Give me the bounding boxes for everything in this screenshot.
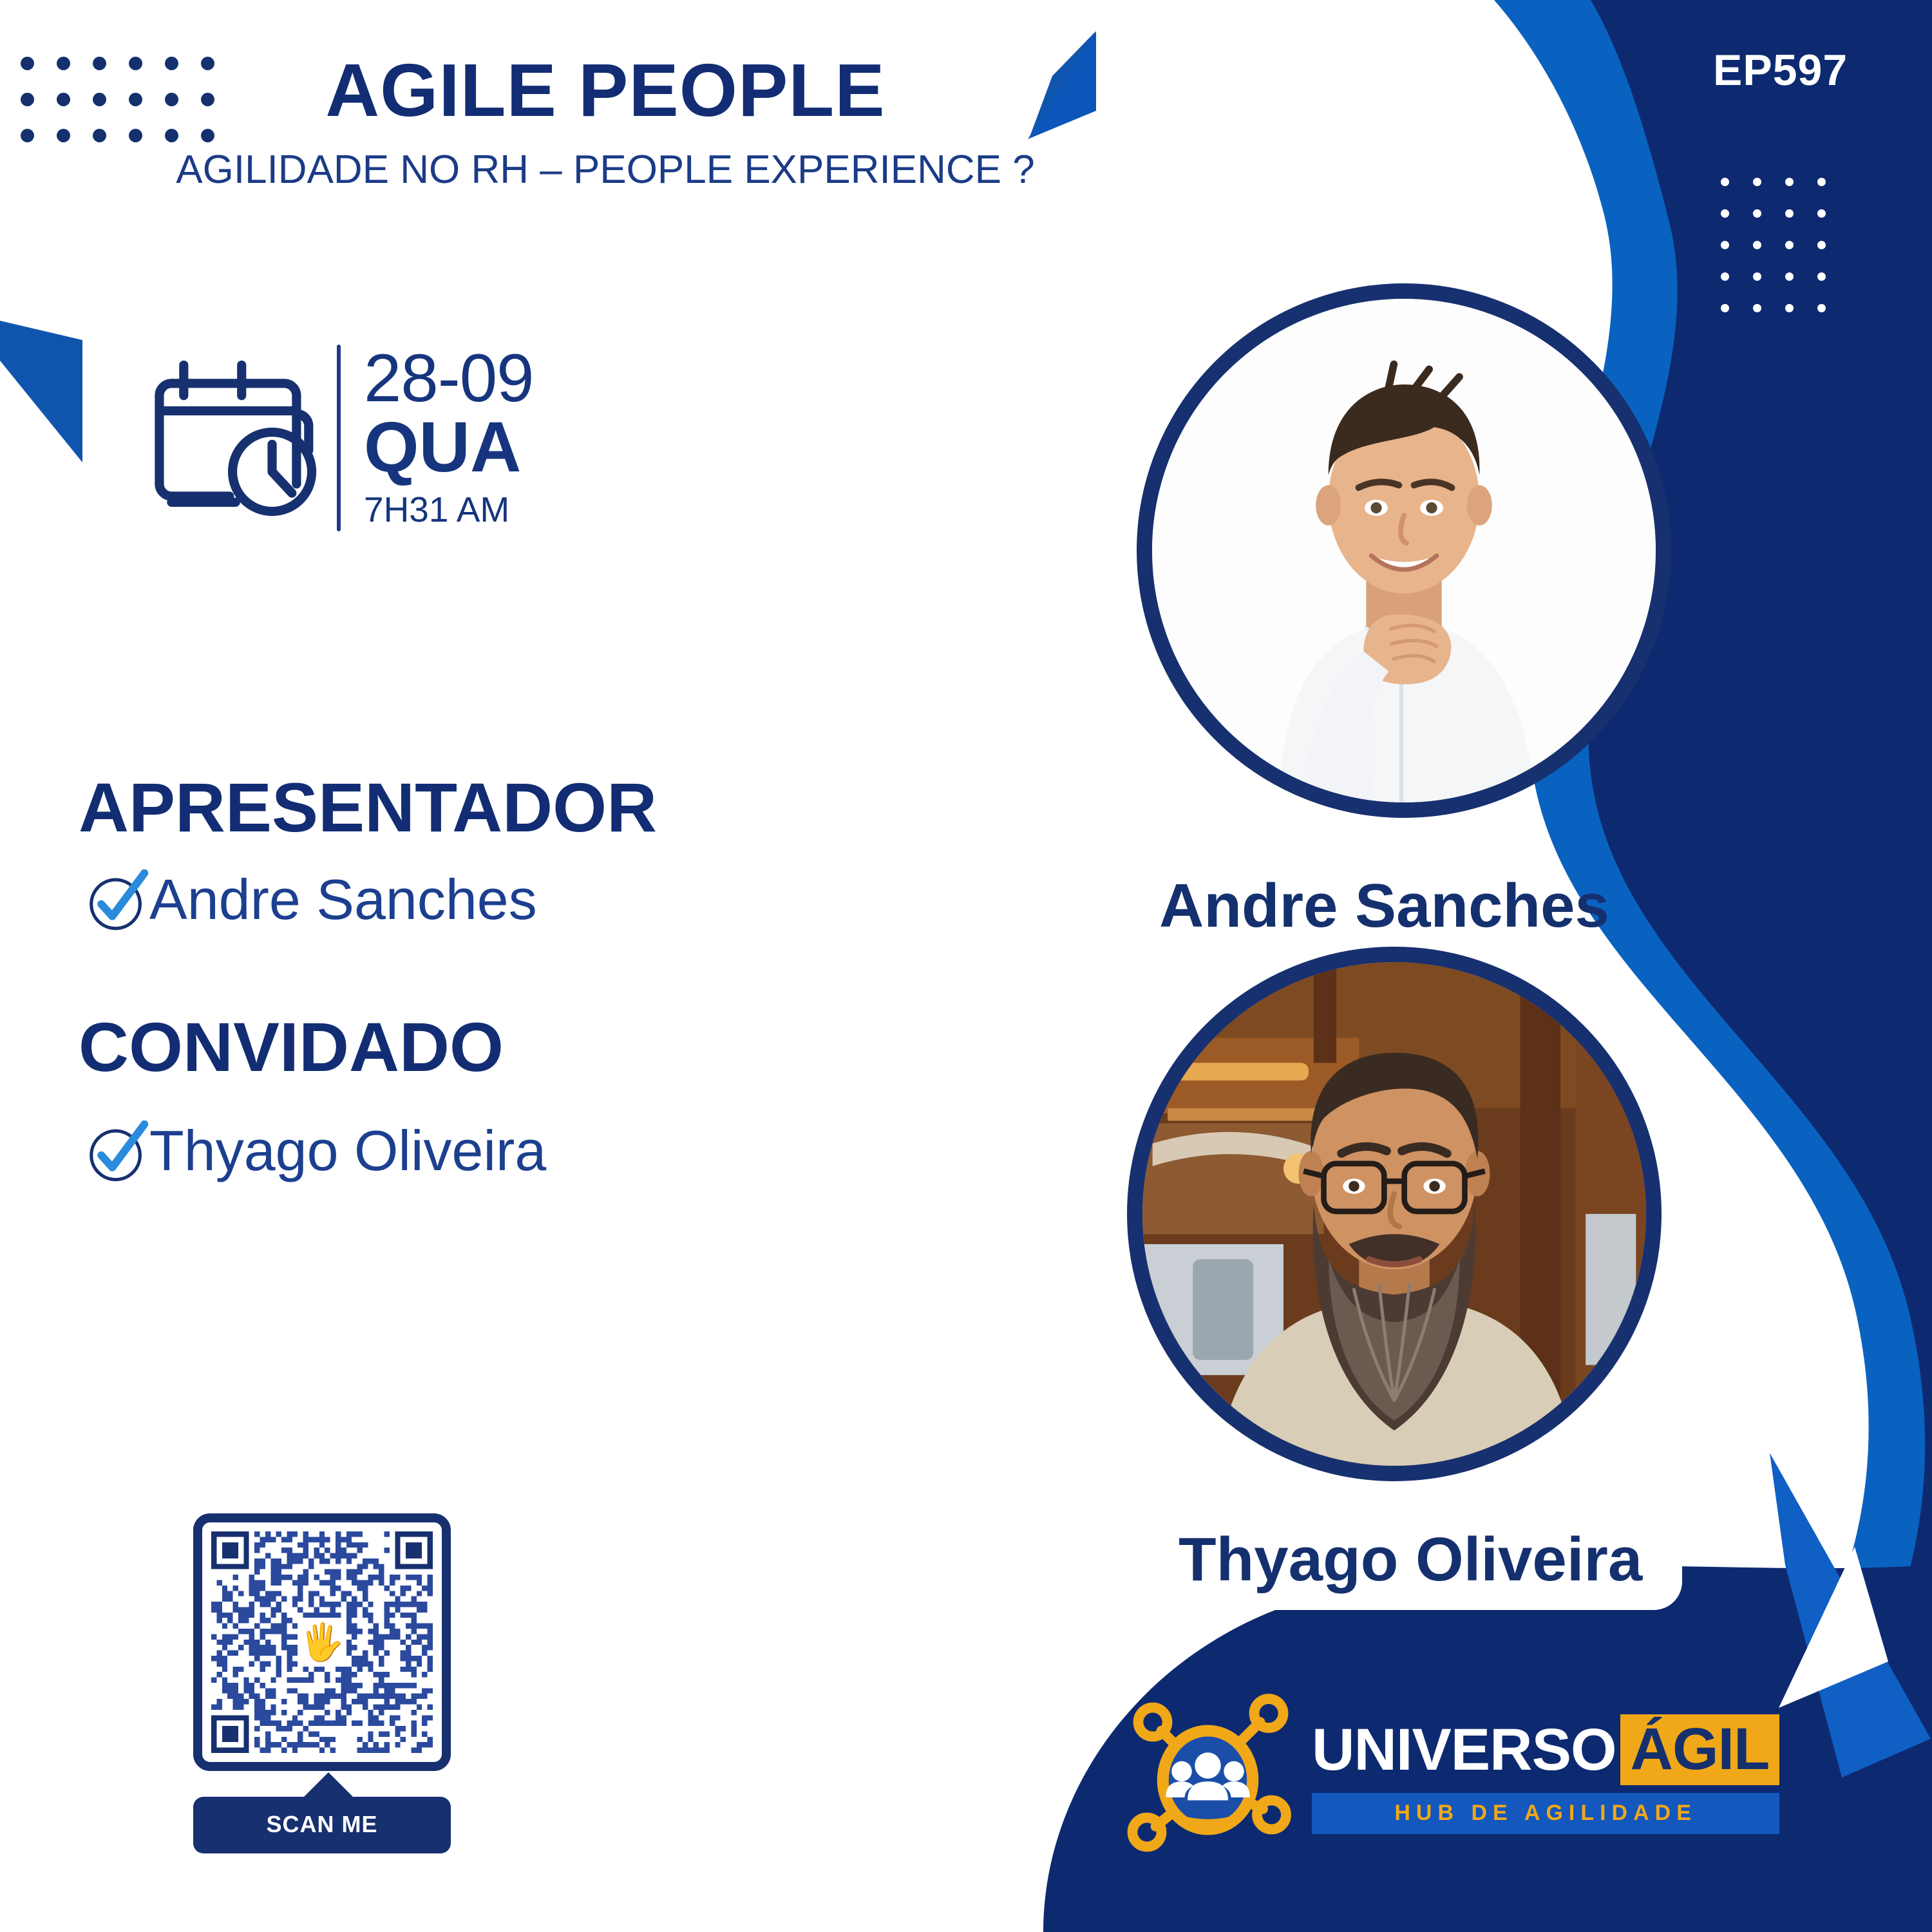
check-circle-icon	[82, 1115, 153, 1186]
brand-name-row: UNIVERSO ÁGIL	[1312, 1714, 1779, 1785]
check-circle-icon	[82, 864, 153, 935]
thyago-oliveira-photo	[1142, 962, 1646, 1466]
role-person-row: Thyago Oliveira	[79, 1115, 980, 1186]
dot	[1753, 304, 1761, 312]
roles-section: APRESENTADOR Andre Sanches CONVIDADO Thy…	[79, 773, 980, 1186]
event-promo-poster: AGILE PEOPLE AGILIDADE NO RH – PEOPLE EX…	[0, 0, 1932, 1932]
qr-code-block[interactable]: 🖐 SCAN ME	[193, 1513, 464, 1853]
brand-logo: UNIVERSO ÁGIL HUB DE AGILIDADE	[1124, 1687, 1779, 1861]
role-person-name: Thyago Oliveira	[149, 1122, 546, 1179]
dot	[1721, 272, 1729, 281]
scan-me-arrow	[301, 1772, 355, 1799]
datetime-text: 28-09 QUA 7H31 AM	[364, 345, 534, 531]
dot	[1785, 304, 1794, 312]
dot	[57, 93, 70, 106]
brand-name-primary: UNIVERSO	[1312, 1720, 1616, 1779]
dot	[57, 57, 70, 70]
left-edge-triangle	[0, 321, 82, 462]
avatar-thyago-oliveira	[1127, 947, 1662, 1481]
dot	[1721, 178, 1729, 186]
dot	[21, 93, 34, 106]
dot-grid-decoration-right	[1721, 178, 1850, 336]
role-person-name: Andre Sanches	[149, 871, 537, 928]
dot	[1721, 209, 1729, 218]
dot	[1721, 241, 1729, 249]
dot	[21, 57, 34, 70]
brand-tagline: HUB DE AGILIDADE	[1394, 1801, 1697, 1825]
dot	[1785, 178, 1794, 186]
brand-name-accent: ÁGIL	[1620, 1714, 1780, 1785]
network-people-icon	[1124, 1687, 1298, 1861]
role-apresentador: APRESENTADOR Andre Sanches	[79, 773, 980, 935]
event-date: 28-09	[364, 345, 534, 412]
dot	[1753, 241, 1761, 249]
dot	[1721, 304, 1729, 312]
dot	[1753, 178, 1761, 186]
brand-tagline-bar: HUB DE AGILIDADE	[1312, 1793, 1779, 1834]
waving-hand-icon: 🖐	[299, 1624, 345, 1660]
role-heading: APRESENTADOR	[79, 773, 980, 842]
dot	[1785, 241, 1794, 249]
event-time: 7H31 AM	[364, 488, 534, 531]
dot	[1785, 272, 1794, 281]
dot	[1817, 241, 1826, 249]
brand-wordmark: UNIVERSO ÁGIL HUB DE AGILIDADE	[1312, 1714, 1779, 1834]
speaker-name-thyago: Thyago Oliveira	[1179, 1529, 1642, 1591]
header-title-block: AGILE PEOPLE AGILIDADE NO RH – PEOPLE EX…	[90, 52, 1121, 193]
speaker-name-andre: Andre Sanches	[1159, 871, 1609, 942]
episode-badge: EP597	[1713, 45, 1848, 95]
dot	[1817, 178, 1826, 186]
calendar-clock-icon	[147, 353, 330, 524]
andre-sanches-photo	[1152, 299, 1656, 802]
datetime-divider	[337, 345, 341, 531]
dot	[57, 129, 70, 142]
scan-me-button[interactable]: SCAN ME	[193, 1797, 451, 1853]
event-weekday: QUA	[364, 412, 534, 483]
dot	[1785, 209, 1794, 218]
role-heading: CONVIDADO	[79, 1012, 980, 1082]
dot	[1817, 304, 1826, 312]
dot	[1817, 272, 1826, 281]
event-datetime: 28-09 QUA 7H31 AM	[147, 345, 534, 531]
role-person-row: Andre Sanches	[79, 864, 980, 935]
page-title: AGILE PEOPLE	[90, 52, 1121, 130]
dot	[1753, 272, 1761, 281]
avatar-andre-sanches	[1137, 283, 1671, 818]
qr-code-frame[interactable]: 🖐	[193, 1513, 451, 1771]
page-subtitle: AGILIDADE NO RH – PEOPLE EXPERIENCE ?	[90, 147, 1121, 193]
dot	[1753, 209, 1761, 218]
dot	[1817, 209, 1826, 218]
role-convidado: CONVIDADO Thyago Oliveira	[79, 1012, 980, 1186]
dot	[21, 129, 34, 142]
speaker-name-thyago-card: Thyago Oliveira	[1139, 1512, 1682, 1610]
